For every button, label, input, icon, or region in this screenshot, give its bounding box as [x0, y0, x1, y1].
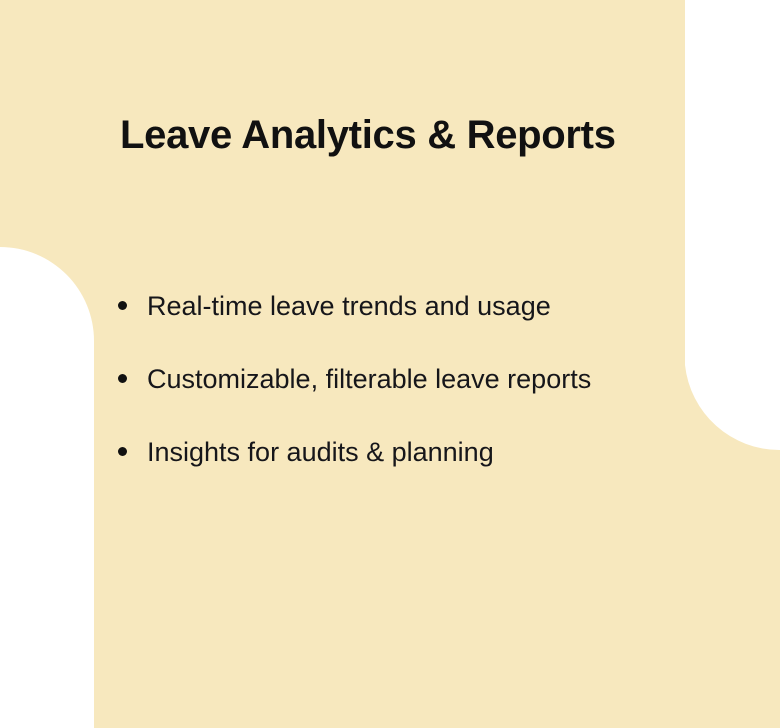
bullet-dot-icon [118, 301, 127, 310]
slide-content: Leave Analytics & Reports Real-time leav… [0, 0, 780, 728]
feature-list: Real-time leave trends and usage Customi… [118, 286, 718, 505]
list-item-label: Insights for audits & planning [147, 437, 494, 467]
bullet-dot-icon [118, 447, 127, 456]
bullet-dot-icon [118, 374, 127, 383]
page-title: Leave Analytics & Reports [120, 112, 616, 158]
slide-canvas: Leave Analytics & Reports Real-time leav… [0, 0, 780, 728]
list-item: Customizable, filterable leave reports [118, 359, 718, 432]
list-item: Real-time leave trends and usage [118, 286, 718, 359]
list-item-label: Customizable, filterable leave reports [147, 364, 591, 394]
list-item: Insights for audits & planning [118, 432, 718, 505]
list-item-label: Real-time leave trends and usage [147, 291, 551, 321]
